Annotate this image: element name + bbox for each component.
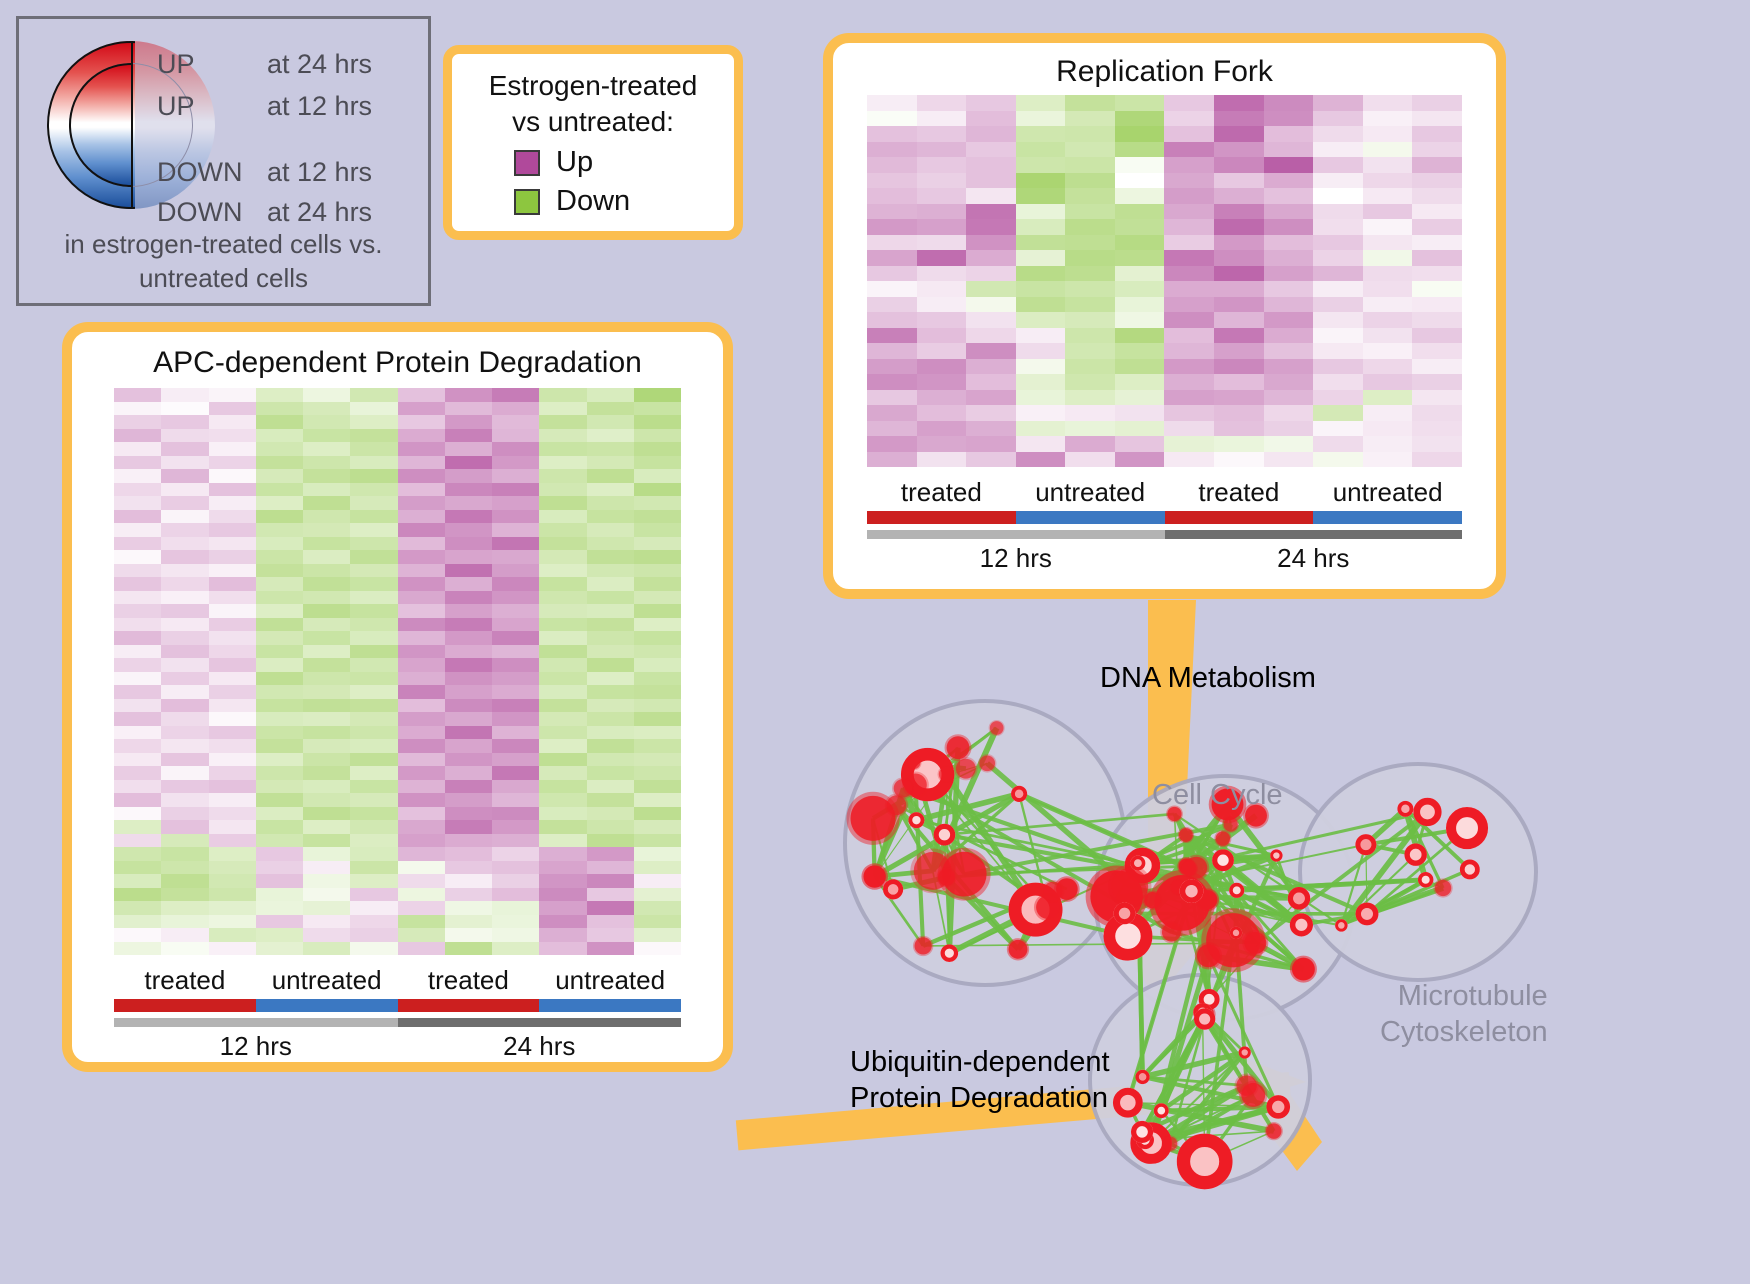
heatmap-cell	[445, 496, 492, 510]
heatmap-cell	[1264, 374, 1314, 390]
heatmap-cell	[445, 402, 492, 416]
heatmap-cell	[1214, 328, 1264, 344]
cond-bar-treated-24-apc	[398, 999, 540, 1012]
heatmap-cell	[161, 388, 208, 402]
heatmap-cell	[1412, 390, 1462, 406]
heatmap-cell	[634, 874, 681, 888]
heatmap-cell	[1313, 157, 1363, 173]
heatmap-cell	[1214, 204, 1264, 220]
heatmap-cell	[209, 658, 256, 672]
heatmap-cell	[350, 388, 397, 402]
network-node-core	[1410, 849, 1422, 861]
heatmap-cell	[1412, 328, 1462, 344]
heatmap-cell	[539, 820, 586, 834]
heatmap-cell	[1065, 297, 1115, 313]
heatmap-cell	[966, 405, 1016, 421]
network-node-core	[1361, 908, 1373, 920]
heatmap-cell	[1313, 126, 1363, 142]
heatmap-cell	[350, 928, 397, 942]
heatmap-cell	[114, 456, 161, 470]
heatmap-cell	[587, 726, 634, 740]
time-bar-24-apc	[398, 1018, 682, 1027]
heatmap-cell	[1363, 328, 1413, 344]
circle-legend-box: UPat 24 hrs UPat 12 hrs DOWNat 12 hrs DO…	[16, 16, 431, 306]
heatmap-cell	[303, 496, 350, 510]
heatmap-cell	[161, 915, 208, 929]
heatmap-cell	[539, 672, 586, 686]
down-swatch	[514, 189, 540, 215]
heatmap-cell	[492, 766, 539, 780]
heatmap-cell	[492, 685, 539, 699]
heatmap-cell	[634, 402, 681, 416]
network-node-core	[1465, 864, 1475, 874]
heatmap-cell	[350, 901, 397, 915]
panel-title-replication-fork: Replication Fork	[833, 43, 1496, 89]
heatmap-cell	[634, 861, 681, 875]
heatmap-cell	[917, 142, 967, 158]
heatmap-cell	[303, 901, 350, 915]
heatmap-cell	[1164, 219, 1214, 235]
network-node-core	[1422, 876, 1430, 884]
heatmap-cell	[256, 726, 303, 740]
heatmap-cell	[350, 658, 397, 672]
heatmap-cell	[1214, 111, 1264, 127]
heatmap-cell	[1264, 235, 1314, 251]
heatmap-cell	[1065, 452, 1115, 468]
heatmap-cell	[303, 442, 350, 456]
heatmap-cell	[303, 874, 350, 888]
network-node	[1182, 861, 1197, 876]
heatmap-cell	[634, 901, 681, 915]
network-diagram: DNA Metabolism Cell Cycle Microtubule Cy…	[770, 600, 1750, 1279]
heatmap-cell	[114, 550, 161, 564]
heatmap-cell	[1363, 297, 1413, 313]
heatmap-cell	[161, 712, 208, 726]
heatmap-cell	[1264, 436, 1314, 452]
heatmap-cell	[1363, 374, 1413, 390]
heatmap-cell	[917, 312, 967, 328]
heatmap-cell	[917, 405, 967, 421]
heatmap-cell	[445, 793, 492, 807]
heatmap-cell	[350, 834, 397, 848]
heatmap-cell	[917, 421, 967, 437]
heatmap-cell	[398, 577, 445, 591]
condition-color-bar-rep	[867, 511, 1462, 524]
heatmap-cell	[492, 861, 539, 875]
heatmap-cell	[587, 496, 634, 510]
heatmap-cell	[587, 942, 634, 956]
heatmap-cell	[966, 452, 1016, 468]
heatmap-cell	[539, 604, 586, 618]
heatmap-cell	[1363, 343, 1413, 359]
heatmap-cell	[209, 483, 256, 497]
heatmap-cell	[1363, 219, 1413, 235]
heatmap-cell	[209, 442, 256, 456]
heatmap-cell	[161, 928, 208, 942]
heatmap-cell	[303, 699, 350, 713]
heatmap-cell	[114, 645, 161, 659]
heatmap-cell	[398, 631, 445, 645]
heatmap-cell	[398, 807, 445, 821]
heatmap-cell	[1363, 359, 1413, 375]
time-label-24-rep: 24 hrs	[1165, 543, 1463, 574]
heatmap-cell	[1115, 126, 1165, 142]
heatmap-cell	[303, 861, 350, 875]
heatmap-cell	[1264, 359, 1314, 375]
heatmap-cell	[634, 915, 681, 929]
cond-bar-treated-12	[867, 511, 1016, 524]
heatmap-cell	[1065, 436, 1115, 452]
heatmap-cell	[398, 820, 445, 834]
heatmap-cell	[1363, 405, 1413, 421]
heatmap-cell	[350, 645, 397, 659]
heatmap-cell	[256, 780, 303, 794]
network-node-core	[912, 816, 920, 824]
heatmap-cell	[917, 204, 967, 220]
heatmap-cell	[966, 312, 1016, 328]
heatmap-cell	[209, 901, 256, 915]
heatmap-cell	[587, 523, 634, 537]
heatmap-cell	[350, 942, 397, 956]
network-node-core	[1015, 790, 1023, 798]
heatmap-cell	[1363, 111, 1413, 127]
heatmap-cell	[398, 415, 445, 429]
heatmap-cell	[539, 388, 586, 402]
network-node-core	[1242, 1049, 1248, 1055]
heatmap-cell	[587, 415, 634, 429]
heatmap-cell	[1264, 204, 1314, 220]
cond-label-treated-12: treated	[867, 477, 1016, 508]
heatmap-cell	[587, 618, 634, 632]
heatmap-cell	[445, 591, 492, 605]
heatmap-cell	[1016, 142, 1066, 158]
heatmap-cell	[1264, 452, 1314, 468]
heatmap-cell	[587, 483, 634, 497]
heatmap-cell	[966, 173, 1016, 189]
heatmap-cell	[867, 204, 917, 220]
heatmap-cell	[1164, 281, 1214, 297]
heatmap-cell	[966, 126, 1016, 142]
time-label-12-rep: 12 hrs	[867, 543, 1165, 574]
heatmap-cell	[114, 915, 161, 929]
heatmap-cell	[303, 604, 350, 618]
heatmap-cell	[256, 483, 303, 497]
heatmap-cell	[256, 820, 303, 834]
heatmap-cell	[1115, 374, 1165, 390]
heatmap-cell	[1214, 374, 1264, 390]
heatmap-cell	[256, 469, 303, 483]
heatmap-cell	[303, 834, 350, 848]
heatmap-cell	[587, 631, 634, 645]
heatmap-cell	[867, 250, 917, 266]
heatmap-cell	[587, 847, 634, 861]
heatmap-cell	[209, 496, 256, 510]
heatmap-cell	[917, 281, 967, 297]
cluster-label-ubiquitin: Ubiquitin-dependent Protein Degradation	[850, 1044, 1110, 1116]
heatmap-cell	[445, 739, 492, 753]
heatmap-cell	[350, 874, 397, 888]
cluster-label-dna-metabolism: DNA Metabolism	[1100, 660, 1316, 696]
heatmap-cell	[398, 469, 445, 483]
heatmap-cell	[256, 645, 303, 659]
heatmap-cell	[1214, 250, 1264, 266]
legend-row-down-24: DOWNat 24 hrs	[157, 197, 372, 228]
heatmap-cell	[256, 388, 303, 402]
heatmap-cell	[917, 235, 967, 251]
heatmap-cell	[634, 631, 681, 645]
network-node-core	[1199, 1013, 1210, 1024]
heatmap-cell	[966, 374, 1016, 390]
heatmap-cell	[398, 915, 445, 929]
heatmap-cell	[114, 699, 161, 713]
heatmap-cell	[492, 834, 539, 848]
heatmap-cell	[539, 766, 586, 780]
heatmap-cell	[587, 672, 634, 686]
heatmap-cell	[350, 699, 397, 713]
heatmap-cell	[587, 766, 634, 780]
heatmap-cell	[445, 847, 492, 861]
heatmap-cell	[303, 766, 350, 780]
network-node	[1043, 882, 1062, 901]
heatmap-cell	[1164, 452, 1214, 468]
network-node-core	[888, 884, 898, 894]
heatmap-cell	[634, 753, 681, 767]
heatmap-cell	[1115, 405, 1165, 421]
heatmap-cell	[256, 618, 303, 632]
network-node	[914, 937, 931, 954]
heatmap-cell	[1214, 297, 1264, 313]
cluster-label-cell-cycle: Cell Cycle	[1152, 777, 1283, 813]
network-node-core	[1272, 1101, 1284, 1113]
heatmap-cell	[350, 888, 397, 902]
cond-bar-untreated-24-apc	[539, 999, 681, 1012]
heatmap-cell	[1313, 281, 1363, 297]
heatmap-cell	[917, 374, 967, 390]
heatmap-cell	[1313, 343, 1363, 359]
heatmap-cell	[161, 550, 208, 564]
time-labels-rep: 12 hrs 24 hrs	[867, 543, 1462, 574]
heatmap-cell	[634, 618, 681, 632]
heatmap-apc-degradation	[114, 388, 681, 955]
heatmap-cell	[114, 928, 161, 942]
heatmap-cell	[867, 219, 917, 235]
heatmap-cell	[256, 550, 303, 564]
heatmap-cell	[634, 388, 681, 402]
heatmap-cell	[634, 942, 681, 956]
heatmap-cell	[1065, 142, 1115, 158]
heatmap-cell	[492, 483, 539, 497]
heatmap-cell	[587, 429, 634, 443]
heatmap-cell	[492, 523, 539, 537]
heatmap-cell	[256, 604, 303, 618]
estrogen-key-title-line2: vs untreated:	[452, 104, 734, 140]
heatmap-replication-fork	[867, 95, 1462, 467]
heatmap-cell	[256, 901, 303, 915]
heatmap-cell	[350, 618, 397, 632]
heatmap-cell	[1115, 390, 1165, 406]
heatmap-cell	[350, 820, 397, 834]
heatmap-cell	[445, 928, 492, 942]
network-node-core	[1293, 892, 1305, 904]
heatmap-cell	[867, 328, 917, 344]
heatmap-cell	[539, 942, 586, 956]
heatmap-cell	[256, 429, 303, 443]
heatmap-cell	[1214, 188, 1264, 204]
heatmap-cell	[1164, 343, 1214, 359]
heatmap-cell	[1115, 421, 1165, 437]
heatmap-cell	[587, 928, 634, 942]
network-svg	[770, 600, 1750, 1279]
down-label: Down	[556, 185, 630, 218]
panel-replication-fork: Replication Fork treated untreated treat…	[823, 33, 1506, 599]
network-node-core	[1401, 805, 1409, 813]
heatmap-cell	[539, 915, 586, 929]
heatmap-cell	[398, 888, 445, 902]
heatmap-cell	[966, 328, 1016, 344]
heatmap-cell	[917, 250, 967, 266]
heatmap-cell	[917, 126, 967, 142]
heatmap-cell	[1214, 266, 1264, 282]
heatmap-cell	[209, 726, 256, 740]
heatmap-cell	[1164, 95, 1214, 111]
heatmap-cell	[917, 173, 967, 189]
heatmap-cell	[492, 388, 539, 402]
cond-label-treated-24-apc: treated	[398, 965, 540, 996]
network-node-core	[1420, 805, 1435, 820]
heatmap-cell	[1016, 421, 1066, 437]
heatmap-cell	[1214, 359, 1264, 375]
heatmap-cell	[966, 390, 1016, 406]
heatmap-cell	[303, 928, 350, 942]
heatmap-cell	[1313, 405, 1363, 421]
heatmap-cell	[1264, 157, 1314, 173]
heatmap-cell	[1115, 312, 1165, 328]
heatmap-cell	[445, 456, 492, 470]
heatmap-cell	[209, 402, 256, 416]
heatmap-cell	[492, 874, 539, 888]
network-node	[939, 767, 954, 782]
heatmap-cell	[1363, 250, 1413, 266]
heatmap-cell	[492, 496, 539, 510]
heatmap-cell	[398, 591, 445, 605]
heatmap-cell	[539, 888, 586, 902]
heatmap-cell	[1214, 157, 1264, 173]
heatmap-cell	[1115, 95, 1165, 111]
heatmap-cell	[303, 820, 350, 834]
heatmap-cell	[256, 496, 303, 510]
cluster-halo-microtubule	[1300, 764, 1536, 980]
heatmap-cell	[445, 699, 492, 713]
heatmap-cell	[867, 421, 917, 437]
heatmap-cell	[398, 766, 445, 780]
heatmap-cell	[917, 452, 967, 468]
heatmap-cell	[1164, 312, 1214, 328]
heatmap-cell	[492, 618, 539, 632]
heatmap-cell	[445, 712, 492, 726]
cond-bar-untreated-12-apc	[256, 999, 398, 1012]
heatmap-cell	[492, 712, 539, 726]
heatmap-cell	[161, 469, 208, 483]
heatmap-cell	[492, 847, 539, 861]
heatmap-cell	[634, 429, 681, 443]
heatmap-cell	[867, 312, 917, 328]
heatmap-cell	[1065, 405, 1115, 421]
heatmap-cell	[539, 402, 586, 416]
heatmap-cell	[209, 550, 256, 564]
heatmap-cell	[492, 888, 539, 902]
heatmap-cell	[1016, 235, 1066, 251]
heatmap-cell	[1164, 235, 1214, 251]
heatmap-cell	[539, 631, 586, 645]
network-node	[1163, 1137, 1177, 1151]
heatmap-cell	[1313, 95, 1363, 111]
heatmap-cell	[350, 523, 397, 537]
heatmap-cell	[634, 577, 681, 591]
heatmap-cell	[398, 780, 445, 794]
heatmap-cell	[1164, 266, 1214, 282]
heatmap-cell	[539, 834, 586, 848]
heatmap-cell	[1065, 359, 1115, 375]
heatmap-cell	[161, 672, 208, 686]
heatmap-cell	[587, 780, 634, 794]
heatmap-cell	[867, 111, 917, 127]
heatmap-cell	[398, 388, 445, 402]
up-swatch	[514, 150, 540, 176]
heatmap-cell	[1016, 95, 1066, 111]
heatmap-cell	[445, 888, 492, 902]
heatmap-cell	[917, 157, 967, 173]
time-bar-24	[1165, 530, 1463, 539]
heatmap-cell	[1313, 312, 1363, 328]
heatmap-cell	[492, 577, 539, 591]
heatmap-cell	[350, 591, 397, 605]
heatmap-cell	[256, 564, 303, 578]
heatmap-cell	[966, 297, 1016, 313]
heatmap-cell	[492, 564, 539, 578]
cond-bar-untreated-24	[1313, 511, 1462, 524]
heatmap-cell	[1016, 266, 1066, 282]
heatmap-cell	[917, 328, 967, 344]
heatmap-cell	[114, 901, 161, 915]
heatmap-cell	[966, 436, 1016, 452]
heatmap-cell	[1264, 390, 1314, 406]
network-node	[1435, 880, 1451, 896]
legend-row-up-12: UPat 12 hrs	[157, 91, 372, 122]
heatmap-cell	[445, 631, 492, 645]
heatmap-cell	[114, 496, 161, 510]
heatmap-cell	[966, 95, 1016, 111]
heatmap-cell	[114, 807, 161, 821]
heatmap-cell	[1164, 390, 1214, 406]
heatmap-cell	[634, 537, 681, 551]
heatmap-cell	[445, 645, 492, 659]
heatmap-cell	[634, 564, 681, 578]
heatmap-cell	[114, 483, 161, 497]
heatmap-cell	[1214, 173, 1264, 189]
network-node-core	[1115, 923, 1140, 948]
heatmap-cell	[350, 577, 397, 591]
network-node-core	[1190, 1147, 1219, 1176]
network-node	[894, 779, 913, 798]
heatmap-cell	[256, 753, 303, 767]
heatmap-cell	[1264, 328, 1314, 344]
heatmap-cell	[917, 188, 967, 204]
heatmap-cell	[445, 942, 492, 956]
heatmap-cell	[1264, 250, 1314, 266]
heatmap-cell	[303, 942, 350, 956]
heatmap-cell	[161, 658, 208, 672]
heatmap-cell	[161, 685, 208, 699]
